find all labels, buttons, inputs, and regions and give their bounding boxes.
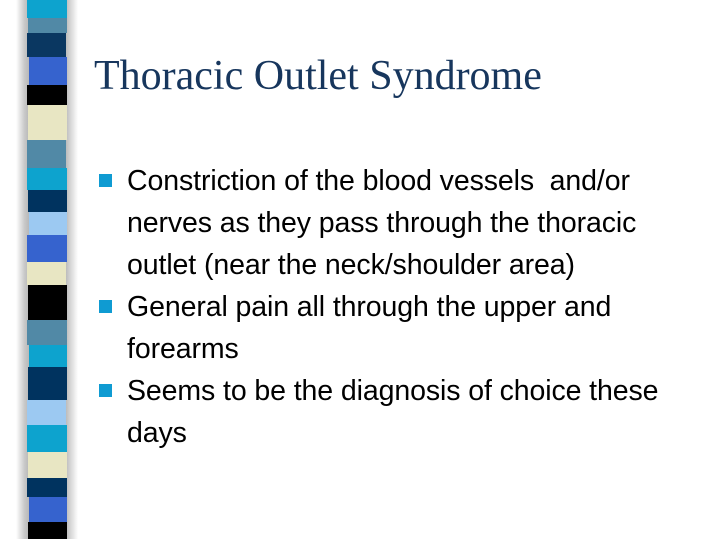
- bullet-square-icon: [99, 384, 112, 397]
- list-item: Seems to be the diagnosis of choice thes…: [99, 370, 707, 454]
- stripe-band: [27, 140, 66, 168]
- page-title: Thoracic Outlet Syndrome: [94, 51, 694, 101]
- stripe-band: [29, 212, 67, 235]
- presentation-slide: Thoracic Outlet Syndrome Constriction of…: [0, 0, 719, 539]
- bullet-square-icon: [99, 174, 112, 187]
- left-color-stripe: [0, 0, 95, 539]
- stripe-band: [27, 262, 66, 285]
- stripe-band: [28, 367, 67, 400]
- stripe-band: [29, 345, 67, 367]
- stripe-band: [28, 105, 67, 140]
- list-item: General pain all through the upper and f…: [99, 286, 707, 370]
- stripe-band: [27, 425, 67, 452]
- stripe-band: [27, 400, 66, 425]
- stripe-band: [27, 0, 67, 18]
- stripe-band: [29, 57, 67, 85]
- stripe-band: [29, 497, 67, 522]
- stripe-band-stack: [27, 0, 67, 539]
- stripe-band: [27, 478, 67, 497]
- stripe-band: [27, 235, 67, 262]
- stripe-band: [27, 168, 67, 190]
- bullet-list: Constriction of the blood vessels and/or…: [99, 160, 707, 454]
- stripe-band: [27, 320, 67, 345]
- stripe-band: [27, 33, 66, 57]
- stripe-band: [27, 85, 67, 105]
- bullet-text: General pain all through the upper and f…: [127, 286, 707, 370]
- bullet-text: Seems to be the diagnosis of choice thes…: [127, 370, 707, 454]
- stripe-band: [28, 522, 67, 539]
- bullet-text: Constriction of the blood vessels and/or…: [127, 160, 707, 286]
- stripe-band: [28, 18, 67, 33]
- bullet-square-icon: [99, 300, 112, 313]
- stripe-band: [28, 190, 67, 212]
- list-item: Constriction of the blood vessels and/or…: [99, 160, 707, 286]
- stripe-band: [28, 285, 67, 320]
- stripe-band: [28, 452, 67, 478]
